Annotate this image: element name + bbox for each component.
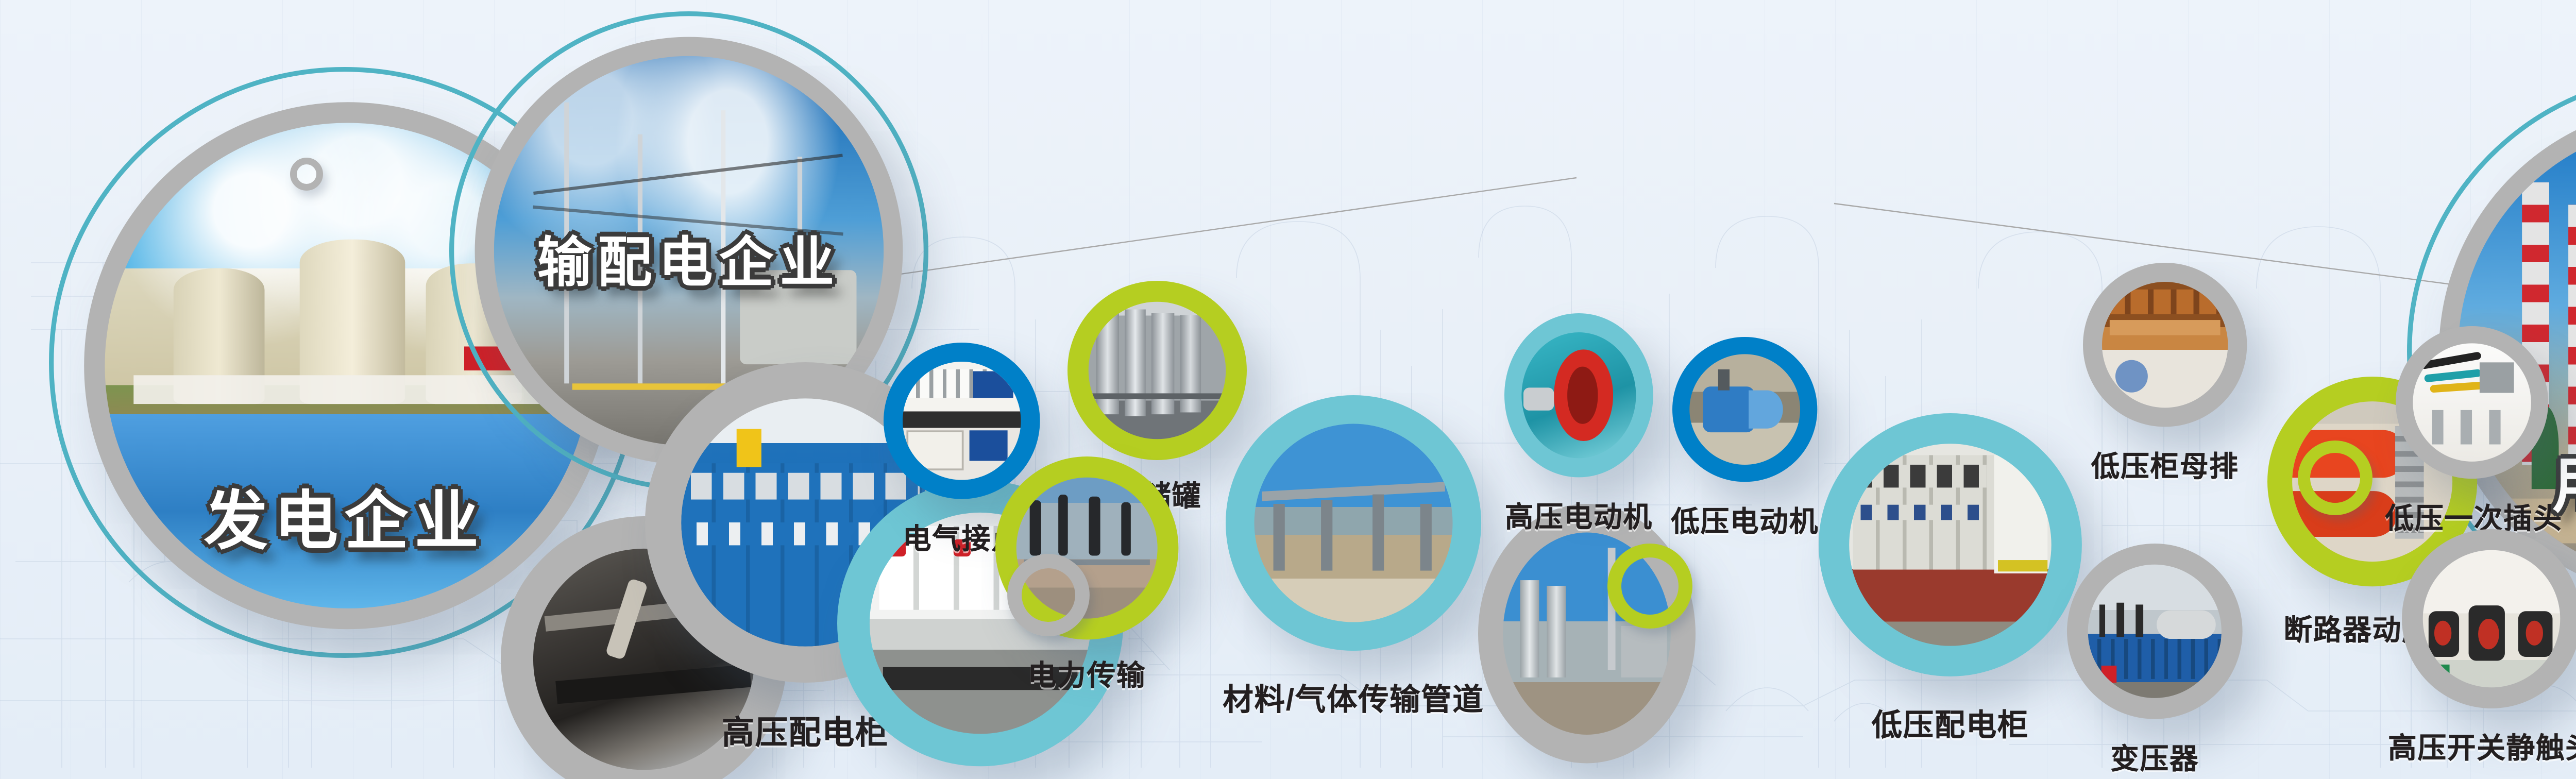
node-material-gas-pipeline[interactable]: 材料/气体传输管道 [1226, 395, 1481, 651]
decorative-ring-grey-1 [290, 158, 323, 191]
decorative-ring-green-1 [1607, 544, 1692, 629]
node-photo-lv-plug [2413, 343, 2531, 462]
decorative-ring-grey-2 [1007, 554, 1090, 636]
node-transformer[interactable]: 变压器 [2067, 544, 2243, 719]
node-hv-motor[interactable]: 高压电动机 [1504, 313, 1653, 477]
node-caption: 材料/气体传输管道 [1223, 673, 1484, 719]
hero-label-power-generation: 发电企业 [204, 469, 485, 562]
infographic-canvas: 发电企业 输配电企业 用电 [0, 0, 2576, 779]
node-lv-cabinet-busbar-a[interactable]: 低压柜母排 [2083, 263, 2247, 427]
node-lv-motor[interactable]: 低压电动机 [1672, 337, 1817, 482]
node-storage-tank[interactable]: 存储罐 [1067, 281, 1247, 460]
node-caption: 电力传输 [1028, 655, 1146, 695]
node-lv-switchgear[interactable]: 低压配电柜 [1819, 413, 2082, 676]
node-photo-pipe-rack [1255, 424, 1453, 622]
node-photo-hv-fixed-contact [2422, 550, 2560, 687]
node-photo-lv-motor [1690, 354, 1801, 465]
node-photo-hv-motor [1521, 332, 1636, 458]
hero-label-transmission-distribution: 输配电企业 [537, 219, 841, 297]
node-caption: 低压配电柜 [1872, 699, 2029, 745]
node-caption: 变压器 [2110, 738, 2199, 778]
node-lv-primary-plug[interactable]: 低压一次插头 [2396, 326, 2548, 479]
node-chemical-plant[interactable] [1478, 504, 1696, 763]
node-hv-switch-fixed-contact[interactable]: 高压开关静触头 [2402, 529, 2576, 708]
node-caption: 高压电动机 [1505, 497, 1653, 537]
node-photo-silos [1089, 302, 1226, 439]
node-photo-lv-switchgear-room [1849, 444, 2051, 646]
node-photo-copper-busbar [2102, 282, 2228, 408]
node-caption: 低压电动机 [1671, 501, 1819, 541]
decorative-ring-green-2 [2298, 441, 2372, 515]
node-photo-transformer [2088, 565, 2222, 698]
node-caption: 高压开关静触头 [2388, 727, 2576, 768]
node-caption: 低压柜母排 [2091, 446, 2239, 486]
